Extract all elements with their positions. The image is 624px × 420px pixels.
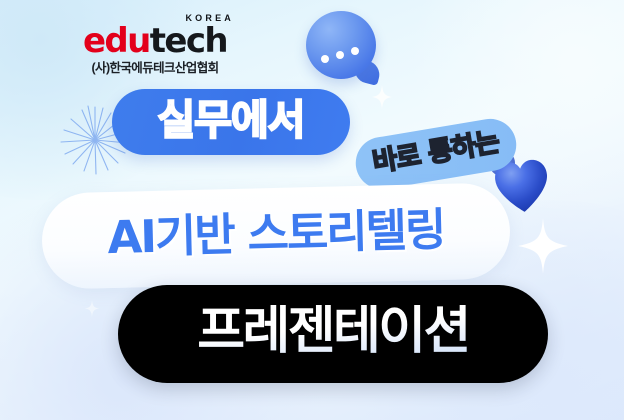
promo-banner: KOREA edutech (사)한국에듀테크산업협회 실무에서 바로 통하는 …: [0, 0, 624, 420]
speech-bubble-dot: [351, 47, 359, 55]
logo-wordmark: edutech: [70, 24, 240, 58]
headline-pill-line4: 프레젠테이션: [118, 285, 548, 383]
sparkle-star-icon: [85, 300, 99, 317]
headline-band-line3: AI기반 스토리텔링: [41, 182, 511, 289]
speech-bubble-dot: [321, 55, 329, 63]
logo-word-tech: tech: [150, 21, 227, 61]
logo-subtitle: (사)한국에듀테크산업협회: [70, 62, 240, 75]
headline-line2-text: 바로 통하는: [371, 129, 502, 180]
sparkle-star-icon: [518, 218, 568, 274]
sparkle-star-icon: [372, 85, 392, 109]
speech-bubble-body: [306, 11, 376, 79]
headline-line1-text: 실무에서: [158, 100, 305, 145]
headline-pill-line1: 실무에서: [112, 89, 350, 155]
headline-line4-text: 프레젠테이션: [197, 305, 468, 363]
headline-line3-text: AI기반 스토리텔링: [107, 207, 445, 265]
speech-bubble-dot: [336, 51, 344, 59]
edutech-korea-logo: KOREA edutech (사)한국에듀테크산업협회: [70, 14, 240, 75]
speech-bubble-icon: [306, 11, 382, 83]
logo-word-edu: edu: [83, 21, 150, 61]
